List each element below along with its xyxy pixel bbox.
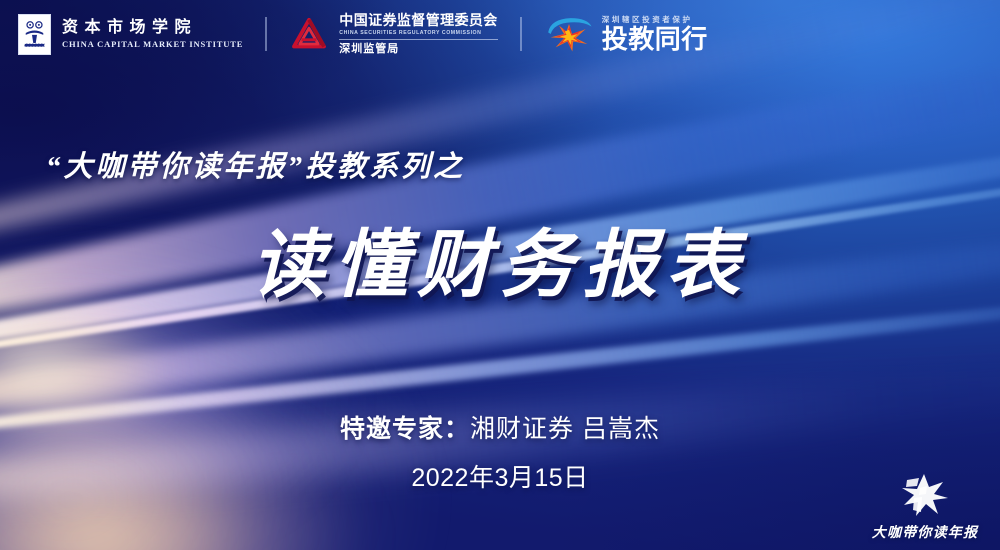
logo-divider-2	[520, 17, 522, 51]
page-title: 读懂财务报表	[0, 224, 1000, 307]
ccmi-wordmark: 资本市场学院 CHINA CAPITAL MARKET INSTITUTE	[62, 18, 243, 51]
csrc-triangle-icon	[289, 14, 329, 54]
logo-csrc-shenzhen: 中国证券监督管理委员会 CHINA SECURITIES REGULATORY …	[289, 12, 497, 56]
corner-watermark: 大咖带你读年报	[864, 472, 986, 542]
logo-toujiao-tongxing: 深圳辖区投资者保护 投教同行	[544, 14, 708, 54]
speaker-name: 湘财证券 吕嵩杰	[470, 415, 660, 443]
csrc-bureau-name: 深圳监管局	[339, 43, 497, 56]
event-date: 2022年3月15日	[0, 458, 1000, 494]
logo-divider-1	[265, 17, 267, 51]
watermark-label: 大咖带你读年报	[872, 522, 978, 542]
csrc-wordmark: 中国证券监督管理委员会 CHINA SECURITIES REGULATORY …	[339, 12, 497, 56]
ccmi-emblem-icon	[18, 14, 51, 55]
header-logo-bar: 资本市场学院 CHINA CAPITAL MARKET INSTITUTE	[0, 0, 1000, 68]
csrc-name-en: CHINA SECURITIES REGULATORY COMMISSION	[339, 30, 497, 40]
speaker-label: 特邀专家：	[340, 415, 470, 443]
tjtx-name-cn: 投教同行	[602, 26, 708, 53]
tjtx-wordmark: 深圳辖区投资者保护 投教同行	[602, 15, 708, 53]
logo-china-capital-market-institute: 资本市场学院 CHINA CAPITAL MARKET INSTITUTE	[18, 14, 243, 55]
speaker-line: 特邀专家：湘财证券 吕嵩杰	[0, 414, 1000, 445]
tjtx-starburst-icon	[544, 14, 594, 54]
ccmi-name-cn: 资本市场学院	[62, 18, 243, 37]
presentation-title-slide: 资本市场学院 CHINA CAPITAL MARKET INSTITUTE	[0, 0, 1000, 550]
star-reader-icon	[894, 472, 956, 520]
ccmi-name-en: CHINA CAPITAL MARKET INSTITUTE	[62, 38, 243, 51]
series-subtitle: “大咖带你读年报”投教系列之	[46, 143, 465, 185]
csrc-name-cn: 中国证券监督管理委员会	[339, 12, 497, 30]
